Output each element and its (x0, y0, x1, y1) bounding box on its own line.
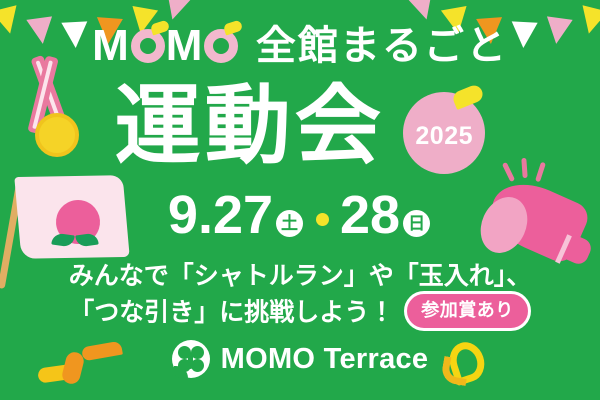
momo-letter-m1: M (92, 21, 130, 70)
description-line-1: みんなで「シャトルラン」や「玉入れ」、 (0, 258, 600, 294)
headline-row: MM 全館まるごと (0, 24, 600, 68)
prize-badge: 参加賞あり (404, 291, 531, 331)
momo-letter-o1-icon (131, 29, 165, 63)
date-separator-dot-icon (316, 213, 329, 226)
brand-footer: MOMO Terrace (0, 340, 600, 378)
momo-letter-o2-icon (204, 29, 238, 63)
momo-wordmark: MM (92, 24, 239, 68)
year-badge: 2025 (403, 92, 485, 174)
event-description: みんなで「シャトルラン」や「玉入れ」、 「つな引き」に挑戦しよう！参加賞あり (0, 258, 600, 334)
date-second-dow: 日 (403, 210, 430, 237)
title-row: 運動会 2025 (0, 78, 600, 174)
date-first-dow: 土 (276, 210, 303, 237)
date-first-number: 9.27 (168, 188, 273, 242)
date-second-number: 28 (340, 188, 400, 242)
description-line-2-row: 「つな引き」に挑戦しよう！参加賞あり (0, 294, 600, 334)
page-title: 運動会 (115, 83, 385, 169)
headline-subtitle: 全館まるごと (256, 26, 508, 66)
bunting-pennant-icon (160, 0, 192, 23)
event-date: 9.27土28日 (0, 188, 600, 242)
brand-name: MOMO Terrace (221, 345, 429, 374)
bunting-pennant-icon (407, 0, 439, 23)
promo-banner: MM 全館まるごと 運動会 2025 9.27土28日 みんなで「シャトルラン」… (0, 0, 600, 400)
year-label: 2025 (403, 92, 485, 174)
peach-leaf-icon (223, 19, 244, 35)
description-line-2: 「つな引き」に挑戦しよう！ (69, 299, 394, 327)
momo-clover-logo-icon (172, 340, 210, 378)
momo-letter-m2: M (166, 21, 204, 70)
